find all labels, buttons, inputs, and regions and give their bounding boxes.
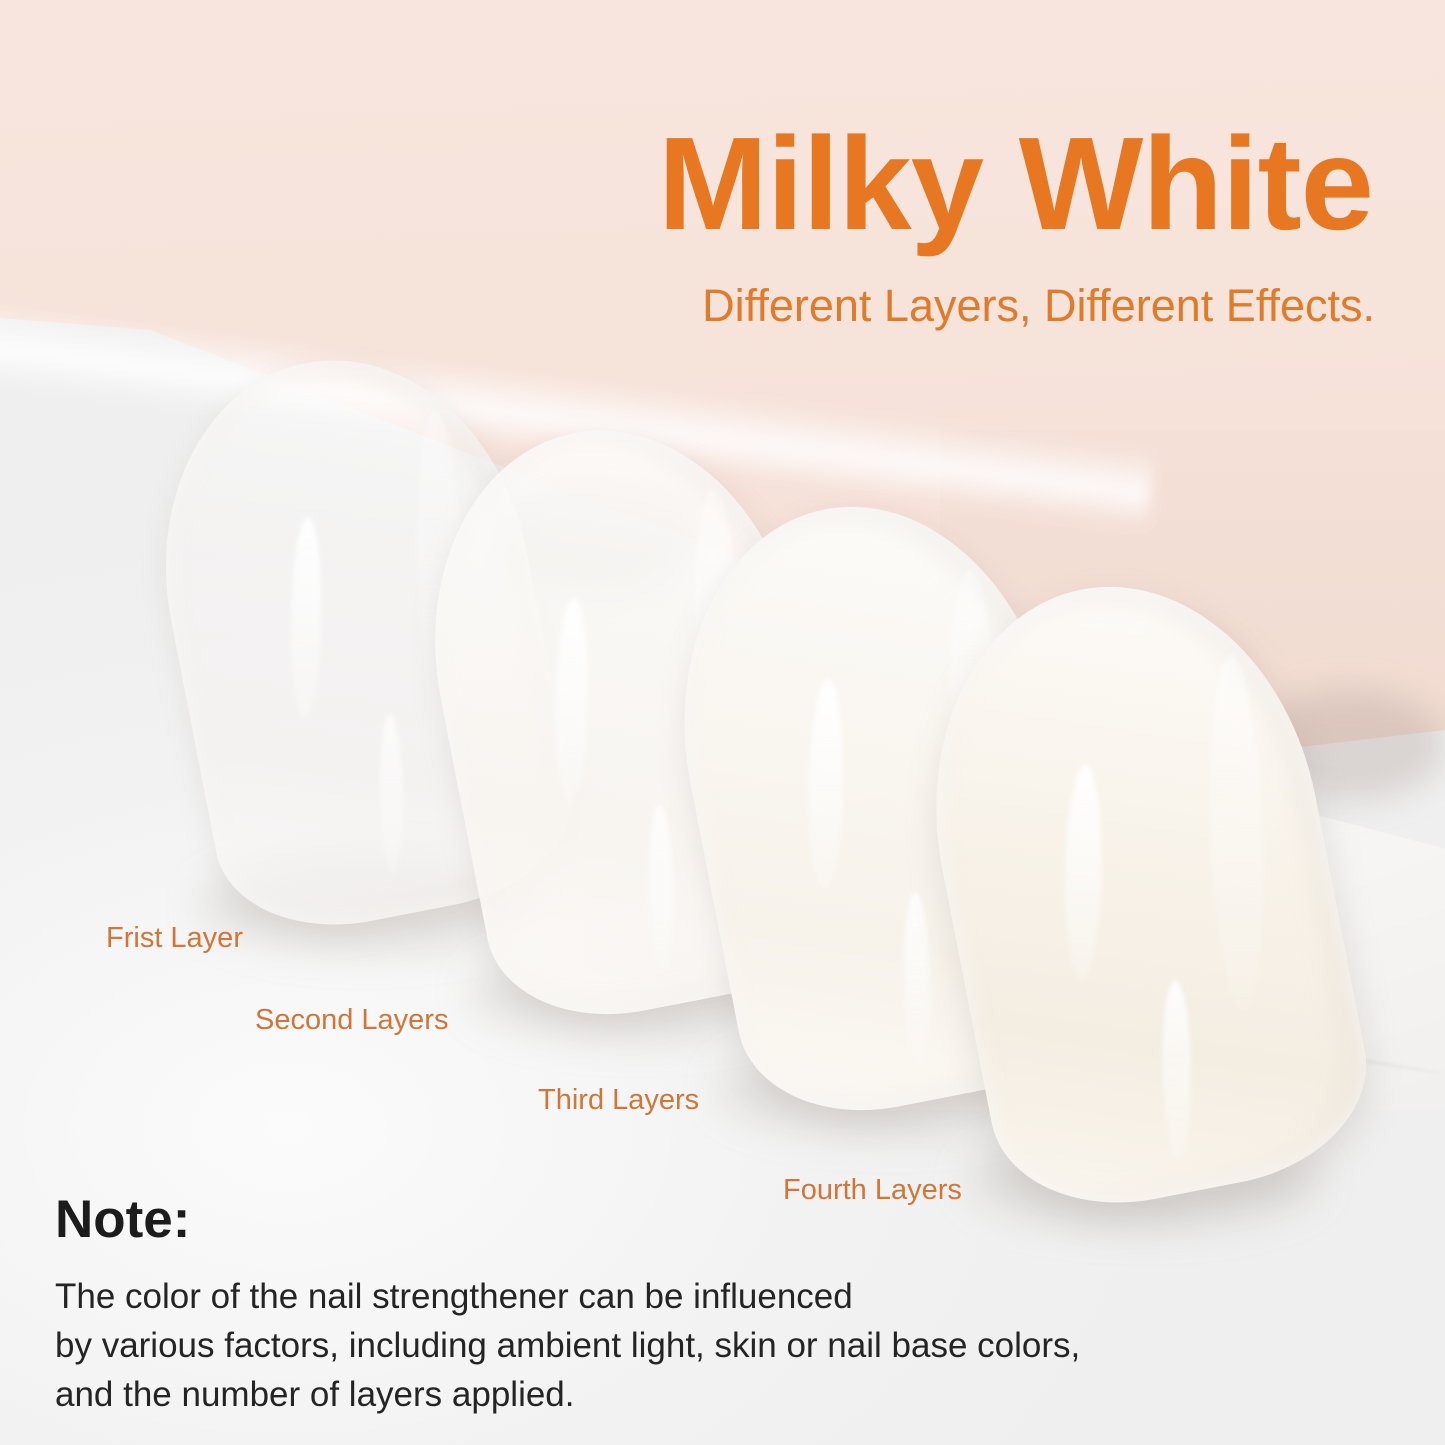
layer-label-first: Frist Layer: [106, 922, 243, 955]
note-heading: Note:: [55, 1192, 1385, 1248]
note-line-2: by various factors, including ambient li…: [55, 1321, 1385, 1370]
note-line-3: and the number of layers applied.: [55, 1370, 1385, 1419]
page-title: Milky White: [0, 118, 1373, 250]
note-block: Note: The color of the nail strengthener…: [55, 1192, 1385, 1419]
layer-label-third: Third Layers: [538, 1084, 699, 1117]
product-infographic: Milky White Different Layers, Different …: [0, 0, 1445, 1445]
note-body: The color of the nail strengthener can b…: [55, 1272, 1385, 1419]
note-line-1: The color of the nail strengthener can b…: [55, 1272, 1385, 1321]
page-subtitle: Different Layers, Different Effects.: [0, 280, 1375, 332]
layer-label-second: Second Layers: [255, 1004, 448, 1037]
